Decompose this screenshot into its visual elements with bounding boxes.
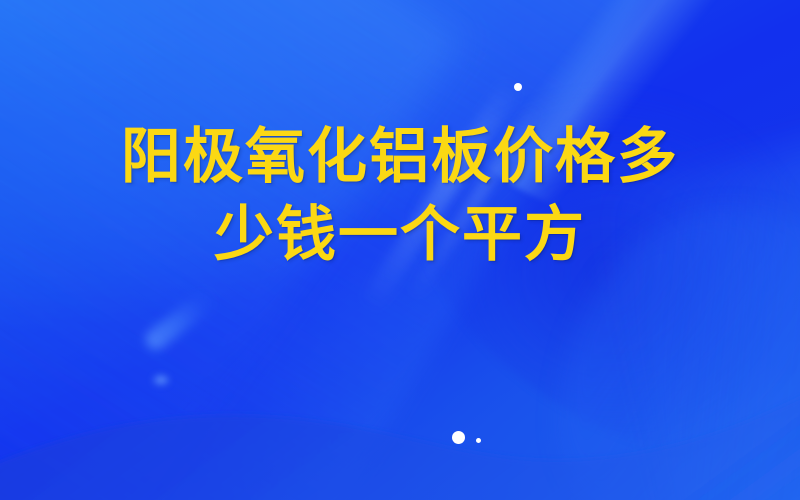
banner-canvas: 阳极氧化铝板价格多 少钱一个平方 <box>0 0 800 500</box>
headline-line-2: 少钱一个平方 <box>0 196 800 274</box>
bottom-wave-band <box>0 330 800 500</box>
headline-block: 阳极氧化铝板价格多 少钱一个平方 <box>0 118 800 274</box>
headline-line-1: 阳极氧化铝板价格多 <box>0 118 800 196</box>
white-dot-small-icon <box>476 438 481 443</box>
white-dot-large-icon <box>452 431 465 444</box>
white-dot-top-icon <box>514 83 522 91</box>
wave-path <box>0 366 800 500</box>
comet-head-icon <box>150 372 172 388</box>
